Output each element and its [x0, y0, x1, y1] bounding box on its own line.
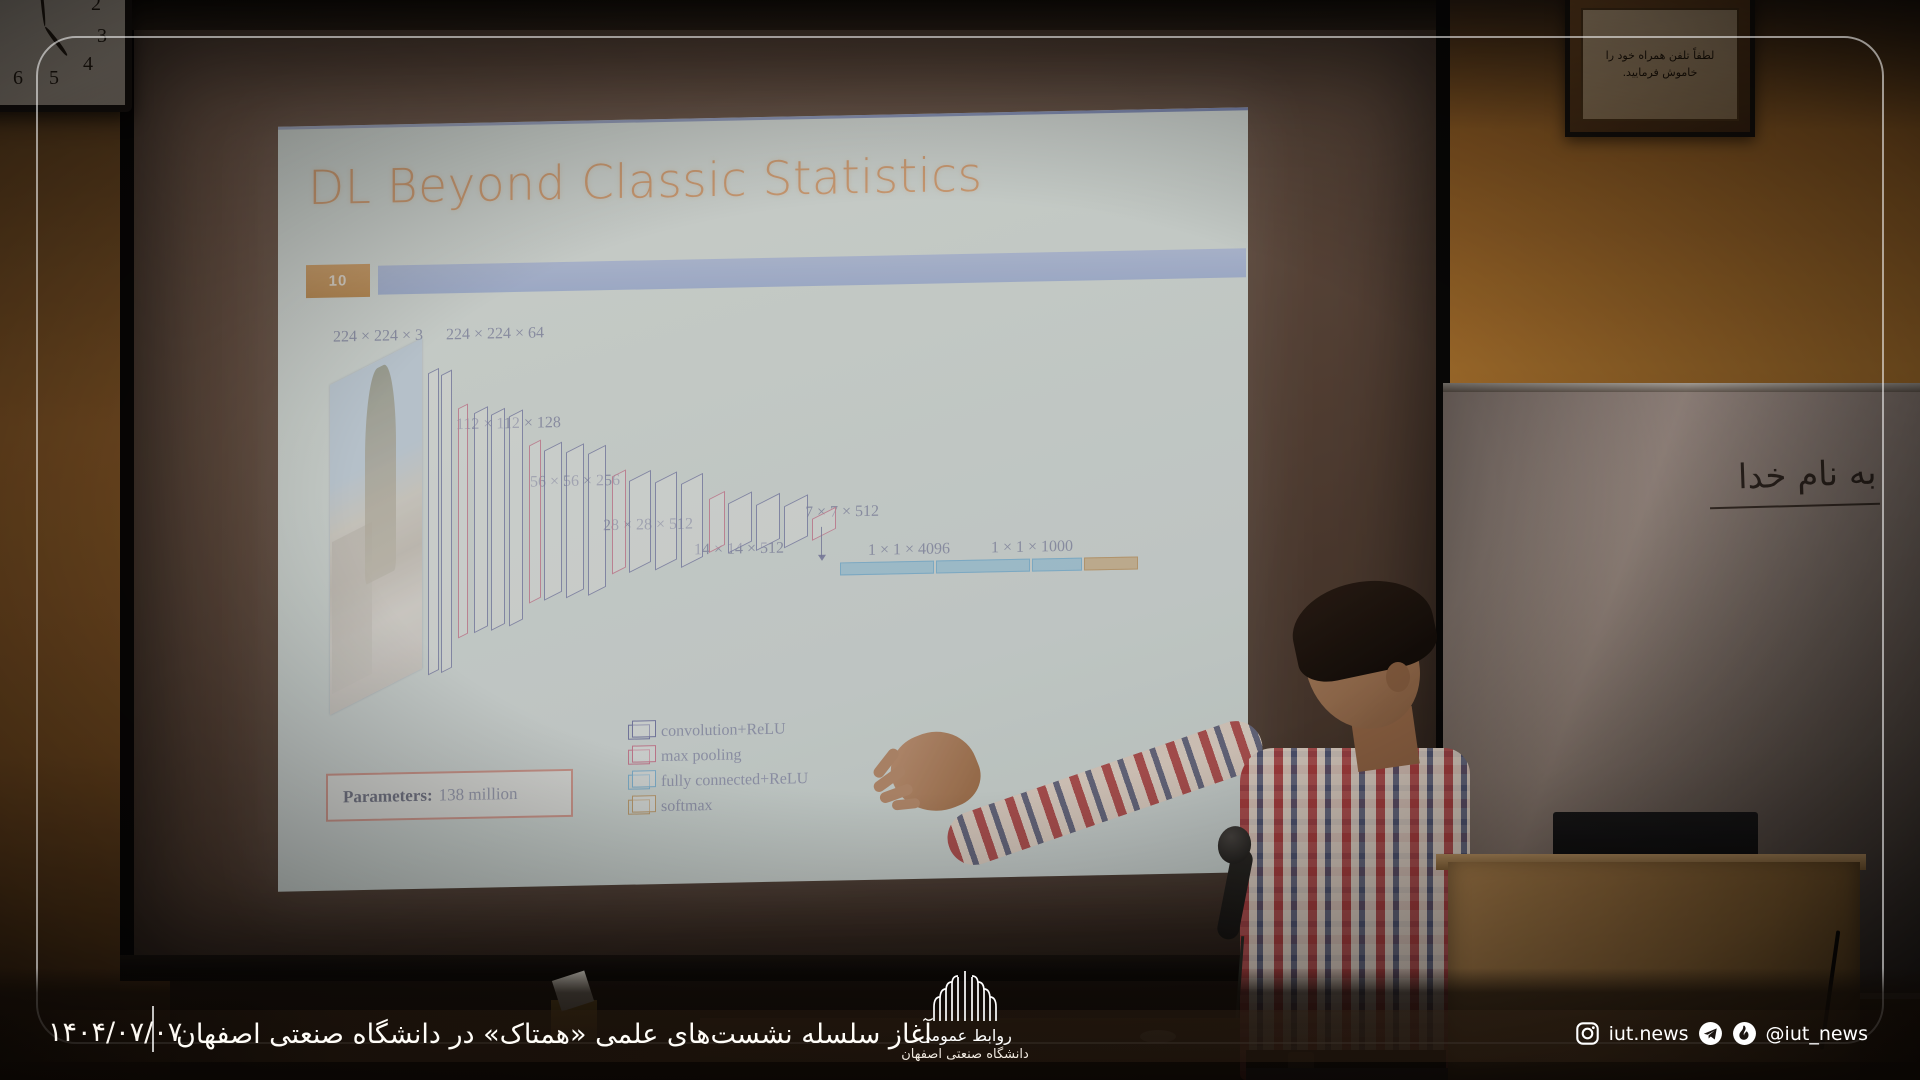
bottom-banner: ۱۴۰۴/۰۷/۰۷ آغاز سلسله نشست‌های علمی «همت… [0, 968, 1920, 1080]
logo-line-2: دانشگاه صنعتی اصفهان [885, 1047, 1045, 1062]
parameters-value: 138 million [439, 784, 518, 806]
parameters-box: Parameters: 138 million [326, 769, 573, 822]
legend-label-fullyconnected: fully connected+ReLU [661, 770, 808, 791]
input-image-block [330, 338, 422, 715]
max-pooling-icon [628, 749, 650, 764]
fc-bar-3 [1032, 558, 1082, 572]
dim-label-1x1x1000: 1 × 1 × 1000 [991, 538, 1073, 558]
legend-label-maxpooling: max pooling [661, 746, 741, 766]
framed-notice-text: لطفاً تلفن همراه خود را خاموش فرمایید. [1583, 48, 1737, 81]
framed-notice: لطفاً تلفن همراه خود را خاموش فرمایید. [1565, 0, 1755, 137]
clock-number-6: 6 [13, 67, 23, 90]
clock-number-4: 4 [83, 53, 93, 76]
legend-row-softmax: softmax [628, 791, 808, 820]
dim-label-224x224x64: 224 × 224 × 64 [446, 324, 544, 344]
instagram-icon[interactable] [1575, 1021, 1600, 1046]
logo-line-1: روابط عمومی [885, 1026, 1045, 1045]
fully-connected-icon [628, 774, 650, 789]
public-relations-logo: روابط عمومی دانشگاه صنعتی اصفهان [885, 969, 1045, 1062]
legend-label-convolution: convolution+ReLU [661, 720, 786, 741]
fc-bar-1 [840, 561, 934, 576]
photo-scene: 12 1 2 3 4 5 6 7 لطفاً تلفن همراه خود را… [0, 0, 1920, 1080]
fc-bar-2 [936, 559, 1030, 574]
dim-label-1x1x4096: 1 × 1 × 4096 [868, 540, 950, 560]
softmax-icon [628, 799, 650, 814]
instagram-handle[interactable]: iut.news [1609, 1023, 1689, 1045]
legend-label-softmax: softmax [661, 797, 713, 816]
clock-number-2: 2 [91, 0, 101, 16]
framed-notice-inner: لطفاً تلفن همراه خود را خاموش فرمایید. [1581, 8, 1739, 121]
clock-minute-hand [38, 0, 46, 27]
legend-row-convolution: convolution+ReLU [628, 716, 808, 745]
slide-title: DL Beyond Classic Statistics [308, 148, 982, 217]
telegram-icon[interactable] [1698, 1021, 1723, 1046]
vgg-architecture-diagram: 224 × 224 × 3 224 × 224 × 64 112 × 112 ×… [278, 282, 1248, 771]
banner-date: ۱۴۰۴/۰۷/۰۷ [48, 1017, 182, 1048]
clock-number-3: 3 [97, 25, 107, 48]
softmax-bar [1084, 556, 1138, 570]
clock-hour-hand [43, 26, 68, 57]
banner-headline: آغاز سلسله نشست‌های علمی «همتاک» در دانش… [176, 1019, 932, 1050]
slide-number-badge: 10 [306, 264, 370, 298]
wall-clock: 12 1 2 3 4 5 6 7 [0, 0, 132, 112]
diagram-legend: convolution+ReLU max pooling fully conne… [628, 716, 808, 820]
convolution-icon [628, 724, 650, 739]
legend-row-maxpooling: max pooling [628, 741, 808, 770]
social-handles: iut.news @iut_news [1575, 1021, 1868, 1046]
legend-row-fullyconnected: fully connected+ReLU [628, 766, 808, 795]
telegram-handle[interactable]: @iut_news [1766, 1023, 1868, 1045]
presenter-ear [1386, 662, 1410, 692]
parameters-label: Parameters: [343, 786, 433, 808]
banner-divider [152, 1006, 154, 1052]
university-building-icon [922, 969, 1008, 1023]
clock-number-5: 5 [49, 67, 59, 90]
bale-icon[interactable] [1732, 1021, 1757, 1046]
screen-left-edge [120, 30, 134, 980]
